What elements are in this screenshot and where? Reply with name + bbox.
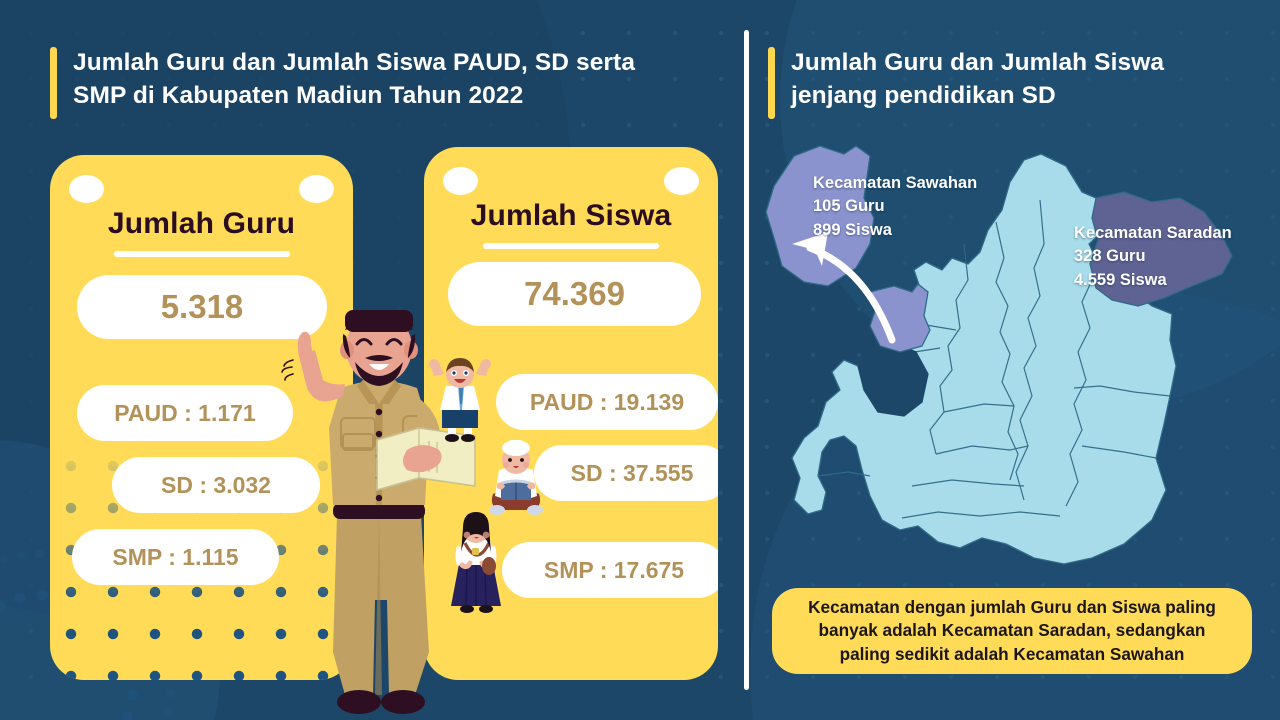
stat-card-siswa: Jumlah Siswa 74.369 PAUD : 19.139 SD : 3… <box>424 147 718 680</box>
card-punch-hole-right <box>299 175 334 203</box>
guru-total-pill: 5.318 <box>77 275 327 339</box>
summary-note-box: Kecamatan dengan jumlah Guru dan Siswa p… <box>772 588 1252 674</box>
guru-paud-pill: PAUD : 1.171 <box>77 385 293 441</box>
siswa-sd-pill: SD : 37.555 <box>534 445 718 501</box>
stat-card-guru: Jumlah Guru 5.318 PAUD : 1.171 SD : 3.03… <box>50 155 353 680</box>
title-accent-bar <box>768 47 775 119</box>
title-accent-bar <box>50 47 57 119</box>
left-panel-title: Jumlah Guru dan Jumlah Siswa PAUD, SD se… <box>50 47 635 119</box>
guru-smp-pill: SMP : 1.115 <box>72 529 279 585</box>
map-label-saradan: Kecamatan Saradan 328 Guru 4.559 Siswa <box>1074 222 1232 292</box>
guru-sd-pill: SD : 3.032 <box>112 457 320 513</box>
map-label-sawahan: Kecamatan Sawahan 105 Guru 899 Siswa <box>813 172 977 242</box>
card-underline <box>114 251 290 257</box>
card-punch-hole-right <box>664 167 699 195</box>
siswa-paud-pill: PAUD : 19.139 <box>496 374 718 430</box>
vertical-divider <box>744 30 749 690</box>
left-title-text: Jumlah Guru dan Jumlah Siswa PAUD, SD se… <box>73 47 635 112</box>
right-panel-title: Jumlah Guru dan Jumlah Siswa jenjang pen… <box>768 47 1164 119</box>
card-punch-hole-left <box>69 175 104 203</box>
card-underline <box>483 243 659 249</box>
summary-note-text: Kecamatan dengan jumlah Guru dan Siswa p… <box>794 596 1230 667</box>
card-heading-guru: Jumlah Guru <box>50 207 353 241</box>
right-title-text: Jumlah Guru dan Jumlah Siswa jenjang pen… <box>791 47 1164 112</box>
card-punch-hole-left <box>443 167 478 195</box>
siswa-smp-pill: SMP : 17.675 <box>502 542 718 598</box>
siswa-total-pill: 74.369 <box>448 262 701 326</box>
card-heading-siswa: Jumlah Siswa <box>424 199 718 233</box>
